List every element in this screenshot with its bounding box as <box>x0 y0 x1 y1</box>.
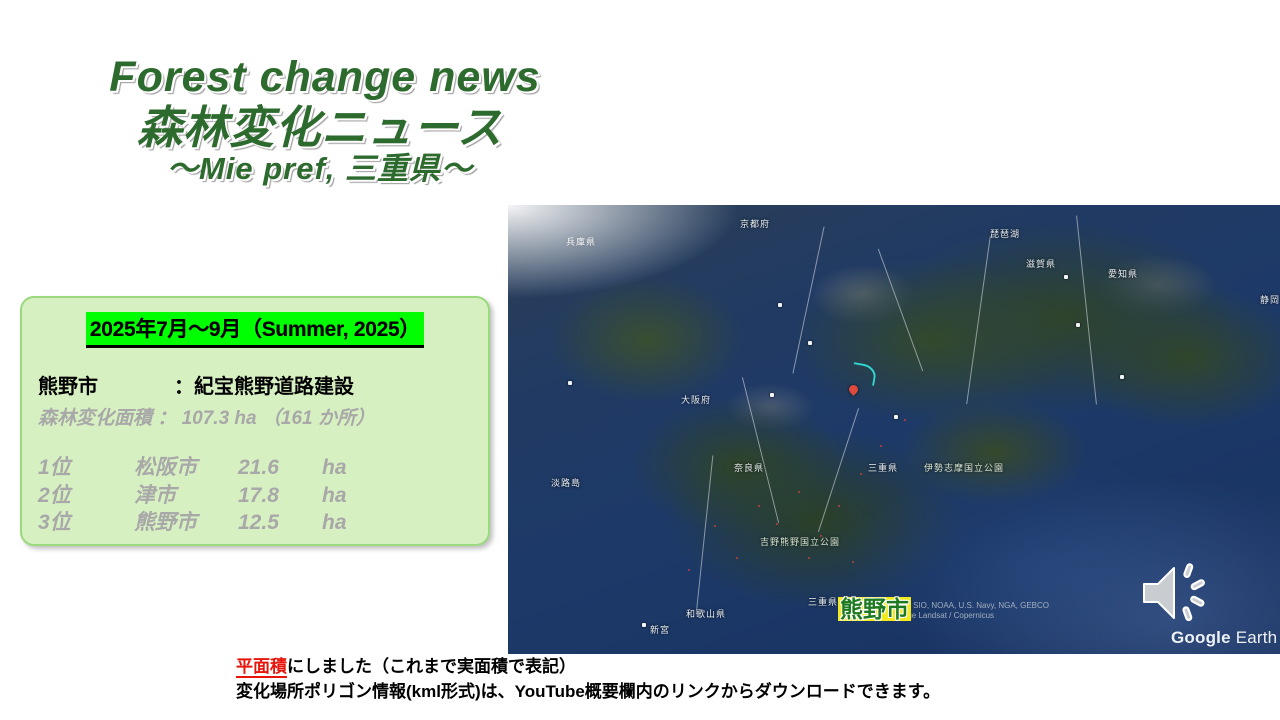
map-label: 滋賀県 <box>1026 257 1056 270</box>
rank-value: 21.6 <box>238 454 322 482</box>
area-separator: ： <box>157 408 176 429</box>
map-city-dot <box>1064 275 1068 279</box>
map-label: 京都府 <box>740 217 770 230</box>
rank-city: 松阪市 <box>134 454 238 482</box>
change-site-marker <box>838 505 840 507</box>
footer-notes: 平面積にしました（これまで実面積で表記） 変化場所ポリゴン情報(kml形式)は、… <box>236 655 940 704</box>
change-site-marker <box>880 445 882 447</box>
change-site-marker <box>736 557 738 559</box>
city-separator: ： <box>174 376 194 398</box>
title-english: Forest change news <box>0 55 640 100</box>
footer-line-1-rest: にしました（これまで実面積で表記） <box>287 657 576 676</box>
change-site-marker <box>798 491 800 493</box>
change-site-marker <box>808 557 810 559</box>
rank-city: 熊野市 <box>134 509 238 537</box>
map-label: 三重県 <box>868 461 898 474</box>
map-label: 三重県 <box>808 595 838 608</box>
map-label: 大阪府 <box>681 393 711 406</box>
map-label: 淡路島 <box>551 476 581 489</box>
area-unit: ha <box>234 408 256 429</box>
map-label: 吉野熊野国立公園 <box>760 535 840 548</box>
footer-highlight: 平面積 <box>236 657 287 678</box>
map-city-dot <box>568 381 572 385</box>
watermark-earth: Earth <box>1231 628 1278 647</box>
info-panel: 2025年7月〜9月（Summer, 2025） 熊野市：紀宝熊野道路建設 森林… <box>20 296 490 546</box>
title-subtitle: 〜Mie pref, 三重県〜 <box>0 153 640 186</box>
rank-city: 津市 <box>134 482 238 510</box>
attribution-line: Image Landsat / Copernicus <box>894 611 1049 621</box>
map-city-dot <box>1076 323 1080 327</box>
rank-value: 17.8 <box>238 482 322 510</box>
change-site-marker <box>852 561 854 563</box>
map-label: 奈良県 <box>734 461 764 474</box>
footer-line-1: 平面積にしました（これまで実面積で表記） <box>236 655 940 680</box>
satellite-map[interactable]: 京都府琵琶湖滋賀県愛知県静岡県兵庫県大阪府淡路島奈良県和歌山県三重県新宮吉野熊野… <box>508 205 1280 654</box>
city-project-row: 熊野市：紀宝熊野道路建設 <box>38 370 488 399</box>
rank-position: 2位 <box>38 482 134 510</box>
map-label: 和歌山県 <box>686 607 726 620</box>
watermark-google: Google <box>1171 628 1231 647</box>
map-city-dot <box>642 623 646 627</box>
area-label: 森林変化面積 <box>38 408 152 429</box>
speaker-icon[interactable] <box>1140 562 1226 624</box>
ranking-row: 3位熊野市12.5ha <box>38 509 488 537</box>
map-label: 兵庫県 <box>566 235 596 248</box>
map-city-dot <box>778 303 782 307</box>
change-site-marker <box>688 569 690 571</box>
date-header: 2025年7月〜9月（Summer, 2025） <box>86 312 424 348</box>
change-site-marker <box>776 523 778 525</box>
attribution-line: Data SIO, NOAA, U.S. Navy, NGA, GEBCO <box>894 601 1049 611</box>
footer-line-2: 変化場所ポリゴン情報(kml形式)は、YouTube概要欄内のリンクからダウンロ… <box>236 680 940 705</box>
rank-value: 12.5 <box>238 509 322 537</box>
rank-position: 3位 <box>38 509 134 537</box>
map-label: 伊勢志摩国立公園 <box>924 461 1004 474</box>
project-name: 紀宝熊野道路建設 <box>194 376 354 398</box>
ranking-row: 2位津市17.8ha <box>38 482 488 510</box>
city-name: 熊野市 <box>38 370 174 399</box>
ranking-list: 1位松阪市21.6ha 2位津市17.8ha 3位熊野市12.5ha <box>38 454 488 537</box>
map-city-dot <box>1120 375 1124 379</box>
map-label: 新宮 <box>650 623 670 636</box>
title-japanese: 森林変化ニュース <box>0 104 640 151</box>
map-city-dot <box>808 341 812 345</box>
forest-change-area-row: 森林変化面積 ： 107.3 ha （161 か所） <box>38 403 488 430</box>
rank-position: 1位 <box>38 454 134 482</box>
map-attribution: Data SIO, NOAA, U.S. Navy, NGA, GEBCOIma… <box>894 601 1049 622</box>
map-city-dot <box>770 393 774 397</box>
date-header-wrapper: 2025年7月〜9月（Summer, 2025） <box>22 312 488 348</box>
change-site-marker <box>860 473 862 475</box>
map-label: 愛知県 <box>1108 267 1138 280</box>
area-value: 107.3 <box>182 408 230 429</box>
rank-unit: ha <box>322 509 347 537</box>
change-site-marker <box>714 525 716 527</box>
change-site-marker <box>904 419 906 421</box>
change-site-marker <box>758 505 760 507</box>
title-block: Forest change news 森林変化ニュース 〜Mie pref, 三… <box>0 55 640 186</box>
rank-unit: ha <box>322 454 347 482</box>
map-label: 琵琶湖 <box>990 227 1020 240</box>
rank-unit: ha <box>322 482 347 510</box>
area-sites: （161 か所） <box>262 408 375 429</box>
map-label: 静岡県 <box>1260 293 1280 306</box>
map-city-dot <box>894 415 898 419</box>
slide-root: Forest change news 森林変化ニュース 〜Mie pref, 三… <box>0 0 1280 720</box>
ranking-row: 1位松阪市21.6ha <box>38 454 488 482</box>
map-highlight-label: 熊野市 <box>838 597 911 621</box>
google-earth-watermark: Google Earth <box>1171 628 1277 648</box>
